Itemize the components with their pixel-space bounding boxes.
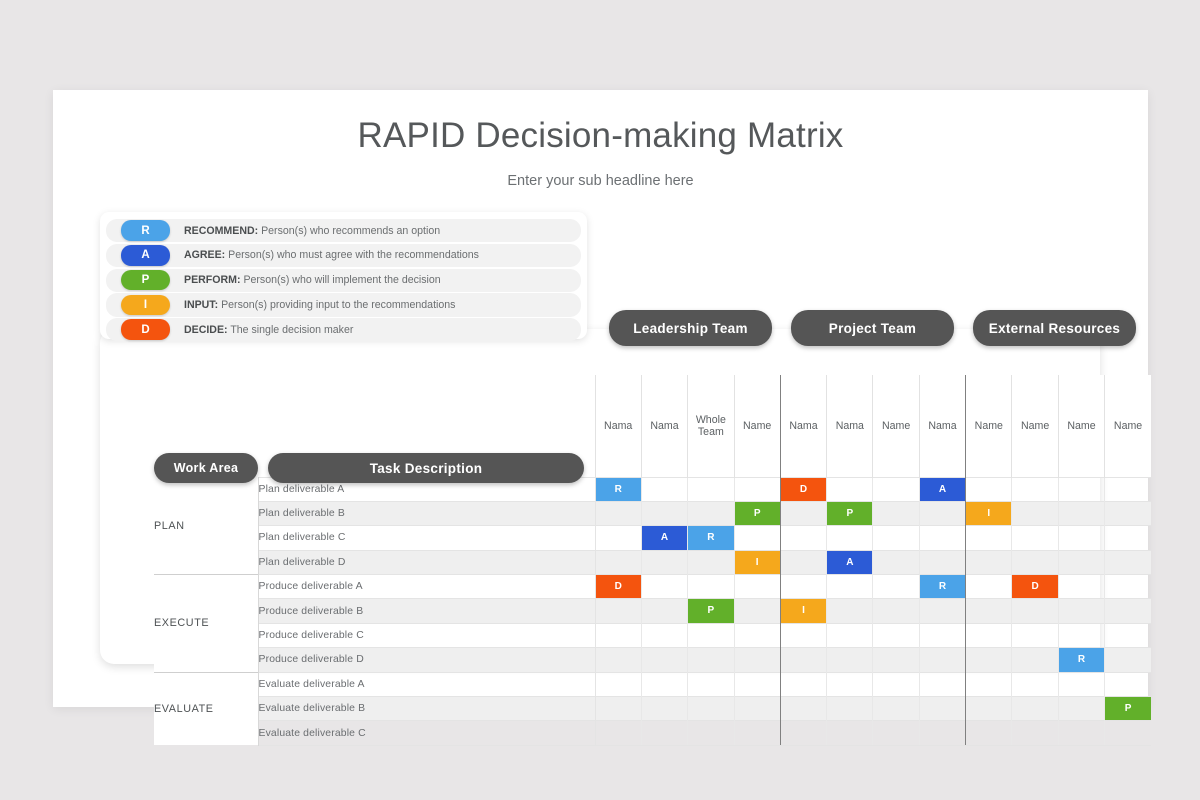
matrix-cell-empty[interactable] [641,599,687,623]
matrix-cell-empty[interactable] [595,526,641,550]
matrix-cell-i[interactable]: I [734,550,780,574]
matrix-cell-empty[interactable] [734,526,780,550]
matrix-cell-empty[interactable] [873,623,919,647]
work-area-label-plan: PLAN [154,477,258,575]
matrix-cell-empty[interactable] [827,697,873,721]
matrix-cell-empty[interactable] [780,672,826,696]
matrix-cell-empty[interactable] [966,623,1012,647]
matrix-cell-empty[interactable] [1058,550,1104,574]
legend-item-a: AAGREE: Person(s) who must agree with th… [106,244,581,267]
matrix-cell-empty[interactable] [734,697,780,721]
matrix-cell-empty[interactable] [919,550,965,574]
legend-label-r: RECOMMEND: Person(s) who recommends an o… [184,225,440,237]
matrix-cell-empty[interactable] [1012,599,1058,623]
legend-item-p: PPERFORM: Person(s) who will implement t… [106,269,581,292]
matrix-cell-i[interactable]: I [966,501,1012,525]
matrix-cell-empty[interactable] [873,648,919,672]
matrix-cell-r[interactable]: R [595,477,641,501]
role-badge-r: R [920,575,965,598]
task-description-cell: Evaluate deliverable C [258,721,595,745]
legend-item-d: DDECIDE: The single decision maker [106,318,581,341]
role-badge-i: I [966,502,1011,525]
group-header-project-team[interactable]: Project Team [791,310,954,346]
column-header-person-7: Name [873,375,919,477]
legend-label-p: PERFORM: Person(s) who will implement th… [184,274,441,286]
matrix-cell-empty[interactable] [688,697,734,721]
matrix-cell-r[interactable]: R [1058,648,1104,672]
task-description-cell: Produce deliverable B [258,599,595,623]
matrix-cell-empty[interactable] [1058,672,1104,696]
matrix-cell-empty[interactable] [734,648,780,672]
column-header-person-6: Nama [827,375,873,477]
matrix-cell-empty[interactable] [1058,477,1104,501]
page-title: RAPID Decision-making Matrix [53,116,1148,156]
matrix-cell-empty[interactable] [966,672,1012,696]
matrix-cell-empty[interactable] [873,501,919,525]
role-badge-r: R [688,526,733,549]
matrix-cell-empty[interactable] [966,575,1012,599]
work-area-label-evaluate: EVALUATE [154,672,258,745]
legend-label-d: DECIDE: The single decision maker [184,324,353,336]
role-badge-i: I [781,599,826,622]
matrix-cell-empty[interactable] [734,721,780,745]
matrix-cell-empty[interactable] [1105,599,1151,623]
column-header-person-3: Whole Team [688,375,734,477]
matrix-cell-empty[interactable] [827,648,873,672]
matrix-cell-empty[interactable] [873,697,919,721]
group-header-leadership-team[interactable]: Leadership Team [609,310,772,346]
task-description-cell: Produce deliverable C [258,623,595,647]
matrix-cell-empty[interactable] [1012,672,1058,696]
table-row: Plan deliverable DIA [154,550,1151,574]
legend-item-r: RRECOMMEND: Person(s) who recommends an … [106,219,581,242]
matrix-cell-r[interactable]: R [919,575,965,599]
task-description-cell: Plan deliverable B [258,501,595,525]
matrix-cell-empty[interactable] [1058,526,1104,550]
matrix-cell-empty[interactable] [780,526,826,550]
matrix-cell-empty[interactable] [873,575,919,599]
matrix-cell-empty[interactable] [780,501,826,525]
table-row: Plan deliverable BPPI [154,501,1151,525]
matrix-cell-empty[interactable] [919,526,965,550]
role-badge-r: R [1059,648,1104,671]
table-row: Produce deliverable BPI [154,599,1151,623]
role-badge-a: A [642,526,687,549]
role-badge-a: A [827,551,872,574]
role-badge-p: P [688,599,733,622]
matrix-cell-empty[interactable] [641,550,687,574]
matrix-cell-empty[interactable] [1012,550,1058,574]
matrix-cell-empty[interactable] [595,550,641,574]
matrix-cell-empty[interactable] [595,648,641,672]
matrix-cell-empty[interactable] [1012,721,1058,745]
matrix-cell-empty[interactable] [1058,599,1104,623]
matrix-cell-i[interactable]: I [780,599,826,623]
matrix-cell-d[interactable]: D [1012,575,1058,599]
column-header-work-area[interactable]: Work Area [154,453,258,483]
role-badge-p: P [735,502,780,525]
column-header-person-9: Name [966,375,1012,477]
matrix-cell-empty[interactable] [595,623,641,647]
matrix-cell-empty[interactable] [1105,721,1151,745]
matrix-cell-p[interactable]: P [1105,697,1151,721]
matrix-cell-empty[interactable] [595,599,641,623]
column-header-person-4: Name [734,375,780,477]
matrix-cell-empty[interactable] [734,623,780,647]
matrix-cell-empty[interactable] [641,575,687,599]
matrix-cell-a[interactable]: A [827,550,873,574]
matrix-cell-empty[interactable] [919,697,965,721]
matrix-cell-empty[interactable] [780,721,826,745]
matrix-cell-d[interactable]: D [780,477,826,501]
matrix-cell-empty[interactable] [827,477,873,501]
matrix-cell-empty[interactable] [595,672,641,696]
matrix-cell-empty[interactable] [873,526,919,550]
matrix-cell-empty[interactable] [1105,672,1151,696]
matrix-cell-empty[interactable] [641,648,687,672]
matrix-cell-empty[interactable] [873,550,919,574]
matrix-cell-empty[interactable] [966,648,1012,672]
matrix-cell-empty[interactable] [827,526,873,550]
matrix-cell-empty[interactable] [1105,575,1151,599]
table-row: Produce deliverable DR [154,648,1151,672]
column-header-person-5: Nama [780,375,826,477]
matrix-cell-empty[interactable] [595,501,641,525]
matrix-cell-a[interactable]: A [919,477,965,501]
matrix-cell-empty[interactable] [1058,721,1104,745]
column-header-person-12: Name [1105,375,1151,477]
matrix-cell-empty[interactable] [1012,648,1058,672]
column-header-person-8: Nama [919,375,965,477]
matrix-cell-empty[interactable] [919,648,965,672]
table-row: EVALUATEEvaluate deliverable A [154,672,1151,696]
matrix-cell-empty[interactable] [734,672,780,696]
column-header-task-description[interactable]: Task Description [268,453,584,483]
task-description-cell: Produce deliverable A [258,575,595,599]
task-description-cell: Produce deliverable D [258,648,595,672]
role-badge-i: I [735,551,780,574]
matrix-cell-empty[interactable] [688,575,734,599]
matrix-cell-empty[interactable] [919,721,965,745]
rapid-matrix-table: NamaNamaWhole TeamNameNamaNamaNameNamaNa… [154,375,1151,746]
task-description-cell: Plan deliverable D [258,550,595,574]
matrix-cell-empty[interactable] [734,575,780,599]
page-subtitle: Enter your sub headline here [53,173,1148,189]
role-badge-r: R [596,478,641,501]
work-area-label-execute: EXECUTE [154,575,258,673]
matrix-cell-empty[interactable] [1105,477,1151,501]
matrix-cell-empty[interactable] [1105,648,1151,672]
matrix-cell-empty[interactable] [641,477,687,501]
matrix-cell-empty[interactable] [1105,501,1151,525]
matrix-cell-empty[interactable] [1058,697,1104,721]
matrix-cell-empty[interactable] [827,721,873,745]
matrix-cell-p[interactable]: P [734,501,780,525]
column-header-person-10: Name [1012,375,1058,477]
table-row: Evaluate deliverable C [154,721,1151,745]
table-row: Plan deliverable CAR [154,526,1151,550]
role-badge-d: D [781,478,826,501]
matrix-cell-empty[interactable] [688,648,734,672]
matrix-cell-empty[interactable] [688,721,734,745]
column-header-person-1: Nama [595,375,641,477]
table-row: Evaluate deliverable BP [154,697,1151,721]
matrix-cell-empty[interactable] [1105,526,1151,550]
matrix-cell-empty[interactable] [688,672,734,696]
task-description-cell: Evaluate deliverable A [258,672,595,696]
matrix-cell-empty[interactable] [780,575,826,599]
task-description-cell: Plan deliverable C [258,526,595,550]
matrix-cell-empty[interactable] [780,623,826,647]
matrix-cell-empty[interactable] [641,697,687,721]
matrix-cell-empty[interactable] [734,599,780,623]
column-header-person-11: Name [1058,375,1104,477]
group-header-external-resources[interactable]: External Resources [973,310,1136,346]
matrix-cell-empty[interactable] [1058,501,1104,525]
matrix-cell-empty[interactable] [1012,477,1058,501]
matrix-cell-empty[interactable] [641,623,687,647]
role-badge-p: P [827,502,872,525]
matrix-cell-empty[interactable] [919,623,965,647]
matrix-cell-empty[interactable] [966,477,1012,501]
task-description-cell: Evaluate deliverable B [258,697,595,721]
matrix-cell-empty[interactable] [688,501,734,525]
slide-canvas: RAPID Decision-making Matrix Enter your … [53,90,1148,707]
matrix-cell-empty[interactable] [873,672,919,696]
matrix-cell-empty[interactable] [873,477,919,501]
matrix-cell-empty[interactable] [595,721,641,745]
table-row: Produce deliverable C [154,623,1151,647]
matrix-cell-empty[interactable] [1105,550,1151,574]
role-badge-d: D [596,575,641,598]
matrix-cell-r[interactable]: R [688,526,734,550]
matrix-cell-empty[interactable] [919,501,965,525]
legend-badge-a: A [121,245,170,266]
matrix-cell-p[interactable]: P [688,599,734,623]
matrix-cell-empty[interactable] [827,623,873,647]
matrix-cell-empty[interactable] [688,477,734,501]
matrix-cell-empty[interactable] [688,550,734,574]
role-badge-p: P [1105,697,1151,720]
legend-badge-r: R [121,220,170,241]
matrix-cell-empty[interactable] [827,575,873,599]
matrix-cell-empty[interactable] [966,550,1012,574]
matrix-cell-empty[interactable] [641,721,687,745]
matrix-cell-empty[interactable] [919,672,965,696]
role-badge-a: A [920,478,965,501]
matrix-cell-empty[interactable] [641,672,687,696]
matrix-cell-empty[interactable] [873,599,919,623]
matrix-cell-empty[interactable] [966,721,1012,745]
matrix-cell-empty[interactable] [966,526,1012,550]
matrix-cell-empty[interactable] [827,599,873,623]
matrix-cell-empty[interactable] [688,623,734,647]
matrix-cell-a[interactable]: A [641,526,687,550]
matrix-cell-empty[interactable] [1058,575,1104,599]
legend-label-i: INPUT: Person(s) providing input to the … [184,299,455,311]
matrix-cell-empty[interactable] [1012,526,1058,550]
matrix-cell-empty[interactable] [595,697,641,721]
column-header-person-2: Nama [641,375,687,477]
matrix-cell-empty[interactable] [1058,623,1104,647]
legend-label-a: AGREE: Person(s) who must agree with the… [184,249,479,261]
matrix-cell-empty[interactable] [780,697,826,721]
matrix-cell-empty[interactable] [734,477,780,501]
role-badge-d: D [1012,575,1057,598]
matrix-cell-p[interactable]: P [827,501,873,525]
matrix-cell-empty[interactable] [641,501,687,525]
legend-badge-p: P [121,270,170,291]
legend-badge-d: D [121,319,170,340]
matrix-cell-empty[interactable] [1105,623,1151,647]
matrix-cell-empty[interactable] [1012,501,1058,525]
matrix-cell-empty[interactable] [919,599,965,623]
matrix-cell-empty[interactable] [780,550,826,574]
legend-badge-i: I [121,295,170,316]
matrix-cell-empty[interactable] [827,672,873,696]
legend-panel: RRECOMMEND: Person(s) who recommends an … [100,212,587,339]
matrix-cell-d[interactable]: D [595,575,641,599]
matrix-cell-empty[interactable] [873,721,919,745]
table-row: EXECUTEProduce deliverable ADRD [154,575,1151,599]
legend-item-i: IINPUT: Person(s) providing input to the… [106,293,581,316]
matrix-cell-empty[interactable] [1012,623,1058,647]
matrix-cell-empty[interactable] [966,697,1012,721]
matrix-cell-empty[interactable] [966,599,1012,623]
matrix-cell-empty[interactable] [780,648,826,672]
matrix-cell-empty[interactable] [1012,697,1058,721]
